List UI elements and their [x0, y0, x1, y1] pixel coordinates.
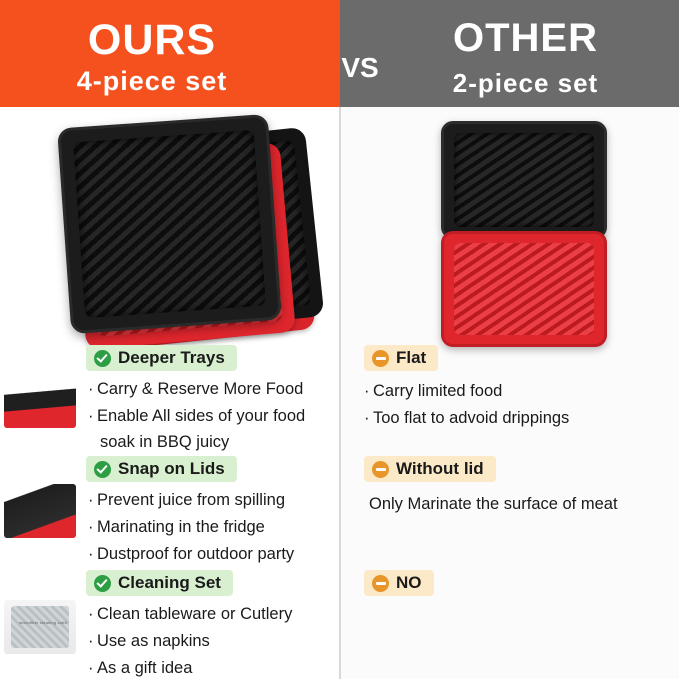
ours-title: OURS [0, 16, 322, 65]
other-title: OTHER [356, 16, 679, 61]
other-feature-1-bullet-1: ·Carry limited food [364, 382, 502, 401]
ours-feature-3-bullet-1: ·Clean tableware or Cutlery [88, 605, 292, 624]
check-circle-icon [94, 461, 111, 478]
ours-feature-3-bullet-3: ·As a gift idea [88, 659, 192, 678]
vs-label: VS [330, 52, 390, 84]
check-circle-icon [94, 575, 111, 592]
other-feature-3-pill: NO [364, 570, 434, 596]
other-feature-2-label: Without lid [396, 459, 484, 479]
other-tray-red [441, 231, 607, 347]
ours-feature-1-bullet-1: ·Carry & Reserve More Food [88, 380, 303, 399]
tray-black-front [57, 114, 282, 334]
other-column: Flat ·Carry limited food ·Too flat to ad… [341, 107, 679, 679]
check-circle-icon [94, 350, 111, 367]
tray-ridges [454, 133, 594, 227]
other-feature-2-text: Only Marinate the surface of meat [369, 495, 618, 514]
ours-feature-1-bullet-3: soak in BBQ juicy [100, 433, 229, 452]
ours-feature-2-label: Snap on Lids [118, 459, 225, 479]
other-feature-1-pill: Flat [364, 345, 438, 371]
ours-feature-1-thumbnail [4, 374, 76, 428]
tray-ridges [73, 130, 266, 318]
tray-ridges [454, 243, 594, 335]
ours-feature-3-pill: Cleaning Set [86, 570, 233, 596]
ours-feature-1-bullet-2: ·Enable All sides of your food [88, 407, 305, 426]
other-feature-1-label: Flat [396, 348, 426, 368]
other-feature-1-bullet-2: ·Too flat to advoid drippings [364, 409, 569, 428]
other-feature-2-pill: Without lid [364, 456, 496, 482]
ours-feature-2-pill: Snap on Lids [86, 456, 237, 482]
ours-feature-3-label: Cleaning Set [118, 573, 221, 593]
other-product-image [341, 107, 679, 345]
ours-feature-2-thumbnail [4, 484, 76, 538]
cloth-label: microfiber cleaning cloth [19, 620, 67, 625]
header-banner: OURS 4-piece set OTHER 2-piece set VS [0, 0, 679, 107]
header-ours-panel: OURS 4-piece set [0, 0, 340, 107]
comparison-infographic: OURS 4-piece set OTHER 2-piece set VS De… [0, 0, 679, 679]
ours-feature-1-pill: Deeper Trays [86, 345, 237, 371]
ours-feature-2-bullet-2: ·Marinating in the fridge [88, 518, 265, 537]
ours-feature-3-bullet-2: ·Use as napkins [88, 632, 210, 651]
ours-subtitle: 4-piece set [0, 66, 322, 97]
ours-feature-2-bullet-3: ·Dustproof for outdoor party [88, 545, 294, 564]
minus-circle-icon [372, 575, 389, 592]
ours-feature-3-thumbnail: microfiber cleaning cloth [4, 600, 76, 654]
ours-feature-1-label: Deeper Trays [118, 348, 225, 368]
ours-column: Deeper Trays ·Carry & Reserve More Food … [0, 107, 340, 679]
minus-circle-icon [372, 461, 389, 478]
minus-circle-icon [372, 350, 389, 367]
ours-feature-2-bullet-1: ·Prevent juice from spilling [88, 491, 285, 510]
header-other-panel: OTHER 2-piece set [340, 0, 679, 107]
cleaning-cloth: microfiber cleaning cloth [11, 606, 69, 648]
ours-product-image [0, 107, 340, 345]
other-tray-black [441, 121, 607, 239]
other-feature-3-label: NO [396, 573, 422, 593]
other-subtitle: 2-piece set [356, 68, 679, 99]
